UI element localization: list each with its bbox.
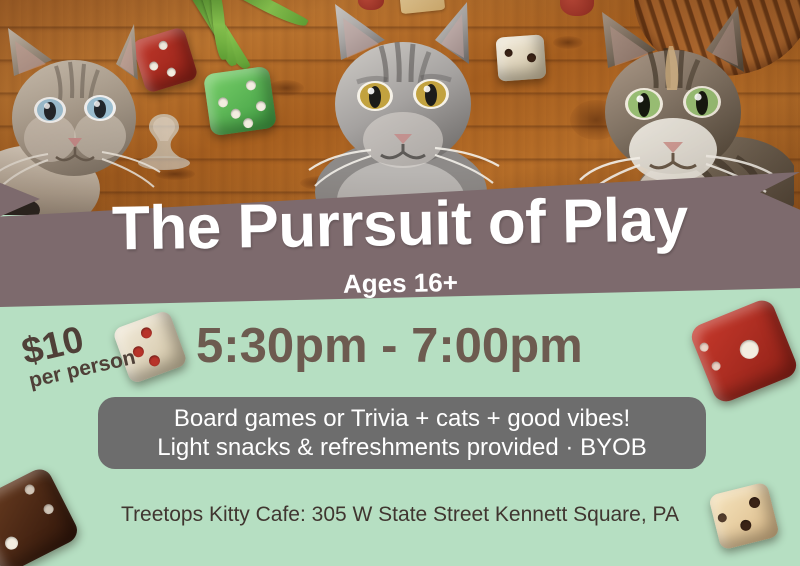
event-details-box: Board games or Trivia + cats + good vibe… <box>98 397 706 469</box>
event-flyer-poster: The Purrsuit of Play Ages 16+ $10 per pe… <box>0 0 800 566</box>
event-details-line-2: Light snacks & refreshments provided · B… <box>157 433 647 462</box>
die-pip <box>3 534 20 551</box>
die-pip-edge <box>698 341 710 353</box>
event-details-line-1: Board games or Trivia + cats + good vibe… <box>174 404 630 433</box>
die-pip <box>147 354 161 368</box>
event-time: 5:30pm - 7:00pm <box>196 318 583 374</box>
die-pip <box>737 337 762 362</box>
die-pip <box>23 483 36 496</box>
die-pip-edge <box>710 360 722 372</box>
die-pip <box>139 326 153 340</box>
venue-address: Treetops Kitty Cafe: 305 W State Street … <box>0 503 800 527</box>
